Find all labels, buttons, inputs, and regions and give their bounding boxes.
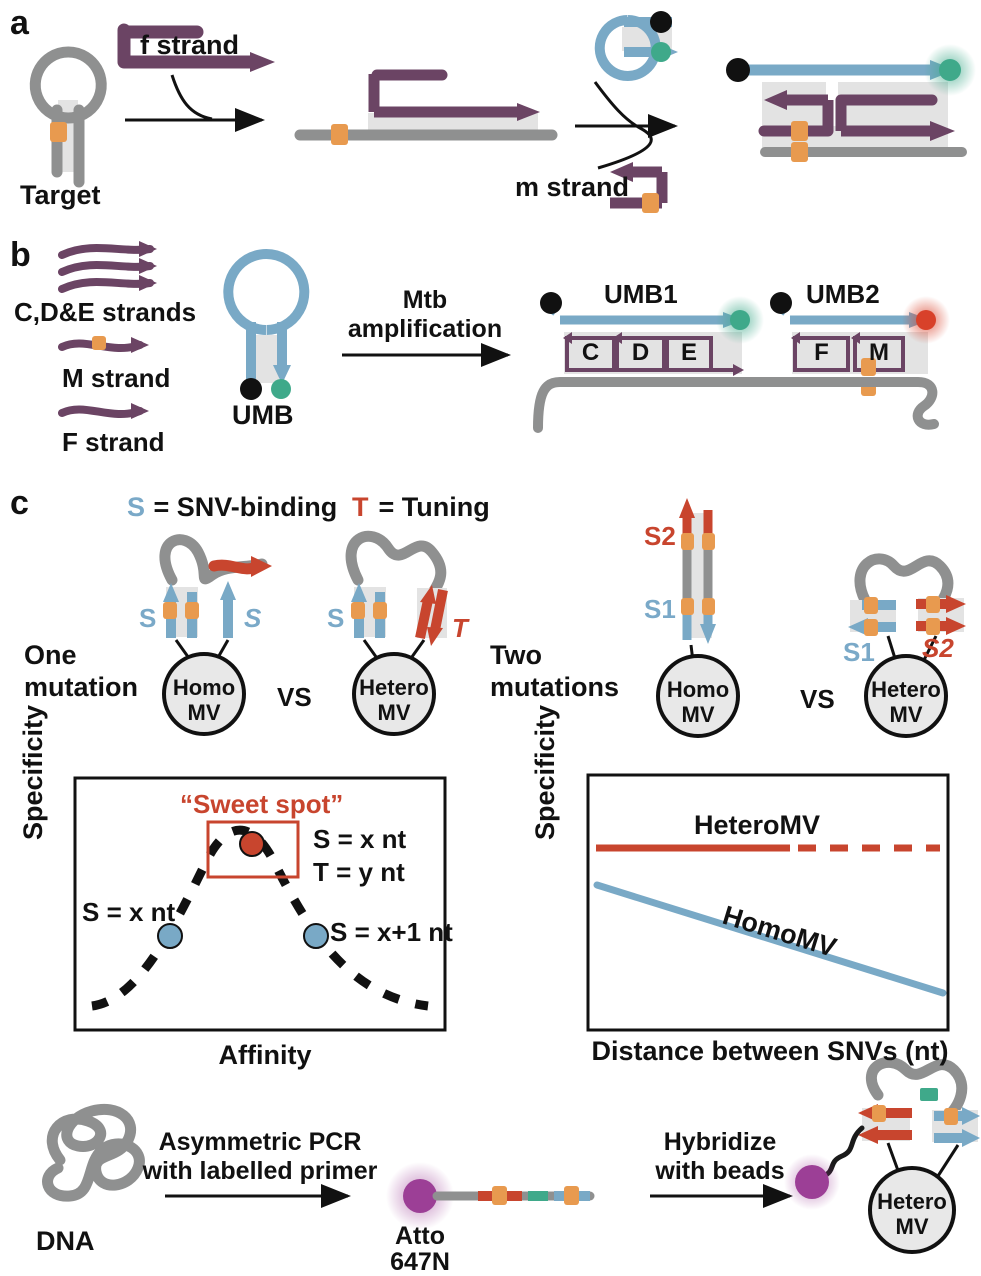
panel-a-product-complex (726, 44, 976, 162)
cde-strands-label: C,D&E strands (14, 298, 196, 327)
umb-hairpin-vertical (228, 254, 304, 400)
atto-label-line2: 647N (380, 1248, 460, 1276)
s-label-hetero: S (327, 604, 344, 633)
umb-label: UMB (232, 400, 294, 430)
hetero-mv-label-left-line2: MV (352, 701, 436, 726)
cde-strands-icon (62, 241, 157, 291)
s1-label-hetero: S1 (843, 638, 875, 667)
s2-label-hetero: S2 (922, 634, 954, 663)
legend-t-symbol: T (352, 492, 369, 522)
labelled-amplicon (386, 1162, 590, 1230)
reaction-arrow-1 (125, 75, 262, 120)
umb2-box-label-m: M (855, 340, 903, 367)
m-strand-label: m strand (515, 172, 629, 202)
hetero-mv-label-right-line1: Hetero (864, 678, 948, 703)
right-point-label: S = x+1 nt (330, 918, 453, 947)
workflow-hetero-mv-line2: MV (870, 1215, 954, 1240)
distance-chart-xlabel: Distance between SNVs (nt) (580, 1036, 960, 1066)
m-strand-icon (62, 336, 149, 353)
sweet-spot-chart-xlabel: Affinity (175, 1040, 355, 1070)
distance-chart-ylabel: Specificity (530, 705, 560, 840)
hetero-mv-label-left-line1: Hetero (352, 676, 436, 701)
s-label-homo-left: S (139, 604, 156, 633)
atto-label-line1: Atto (380, 1222, 460, 1250)
target-hairpin (35, 52, 101, 182)
f-strand-icon (62, 403, 149, 419)
umb1-label: UMB1 (604, 280, 678, 309)
one-mutation-label-line1: One (24, 640, 77, 670)
homo-mv-label-right-line1: Homo (658, 678, 738, 703)
t-label-hetero: T (452, 614, 468, 643)
vs-label-right: VS (800, 685, 835, 714)
figure-graphics (0, 0, 981, 1274)
mtb-amplification-label-line2: amplification (335, 315, 515, 343)
two-mutations-label-line1: Two (490, 640, 542, 670)
two-mutations-label-line2: mutations (490, 672, 619, 702)
sweet-spot-annotation: “Sweet spot” (180, 790, 343, 819)
workflow-hetero-mv-line1: Hetero (870, 1190, 954, 1215)
hetero-mv-label-right-line2: MV (864, 703, 948, 728)
m-strand-label-b: M strand (62, 364, 170, 393)
umb2-box-label-f: F (795, 340, 848, 367)
step1-label-line1: Asymmetric PCR (150, 1128, 370, 1156)
panel-letter-b: b (10, 236, 31, 274)
target-f-duplex (300, 74, 552, 145)
vs-label-left: VS (277, 683, 312, 712)
step1-label-line2: with labelled primer (140, 1157, 380, 1185)
umb-hairpin-blue (600, 11, 678, 76)
sweet-spot-chart-ylabel: Specificity (18, 705, 48, 840)
left-point-label: S = x nt (82, 898, 175, 927)
sweet-spot-point-label-line1: S = x nt (313, 825, 406, 854)
homo-mv-label-left-line1: Homo (164, 676, 244, 701)
umb1-box-label-c: C (567, 340, 614, 367)
s-label-homo-right: S (244, 604, 261, 633)
umb1-box-label-d: D (617, 340, 664, 367)
mtb-amplification-label-line1: Mtb (360, 286, 490, 314)
legend-s-text: = SNV-binding (146, 492, 337, 522)
legend-t-text: = Tuning (371, 492, 490, 522)
heteromv-series-label: HeteroMV (694, 810, 820, 840)
s1-label-homo: S1 (644, 595, 676, 624)
sweet-spot-point-label-line2: T = y nt (313, 858, 405, 887)
f-strand-label: f strand (140, 30, 239, 60)
reaction-arrow-2 (575, 82, 675, 168)
f-strand-label-b: F strand (62, 428, 165, 457)
homo-mv-label-right-line2: MV (658, 703, 738, 728)
figure-root: a Target f strand m strand b C,D&E stran… (0, 0, 981, 1274)
umb1-box-label-e: E (667, 340, 711, 367)
legend-s-symbol: S (127, 492, 145, 522)
homo-mv-label-left-line2: MV (164, 701, 244, 726)
target-label: Target (20, 180, 101, 210)
dna-tangle-icon (48, 1109, 140, 1196)
one-mutation-label-line2: mutation (24, 672, 138, 702)
step2-label-line2: with beads (630, 1157, 810, 1185)
panel-letter-a: a (10, 4, 29, 42)
umb2-label: UMB2 (806, 280, 880, 309)
s2-label-homo: S2 (644, 522, 676, 551)
dna-label: DNA (36, 1226, 95, 1256)
step2-label-line1: Hybridize (640, 1128, 800, 1156)
panel-letter-c: c (10, 484, 29, 522)
